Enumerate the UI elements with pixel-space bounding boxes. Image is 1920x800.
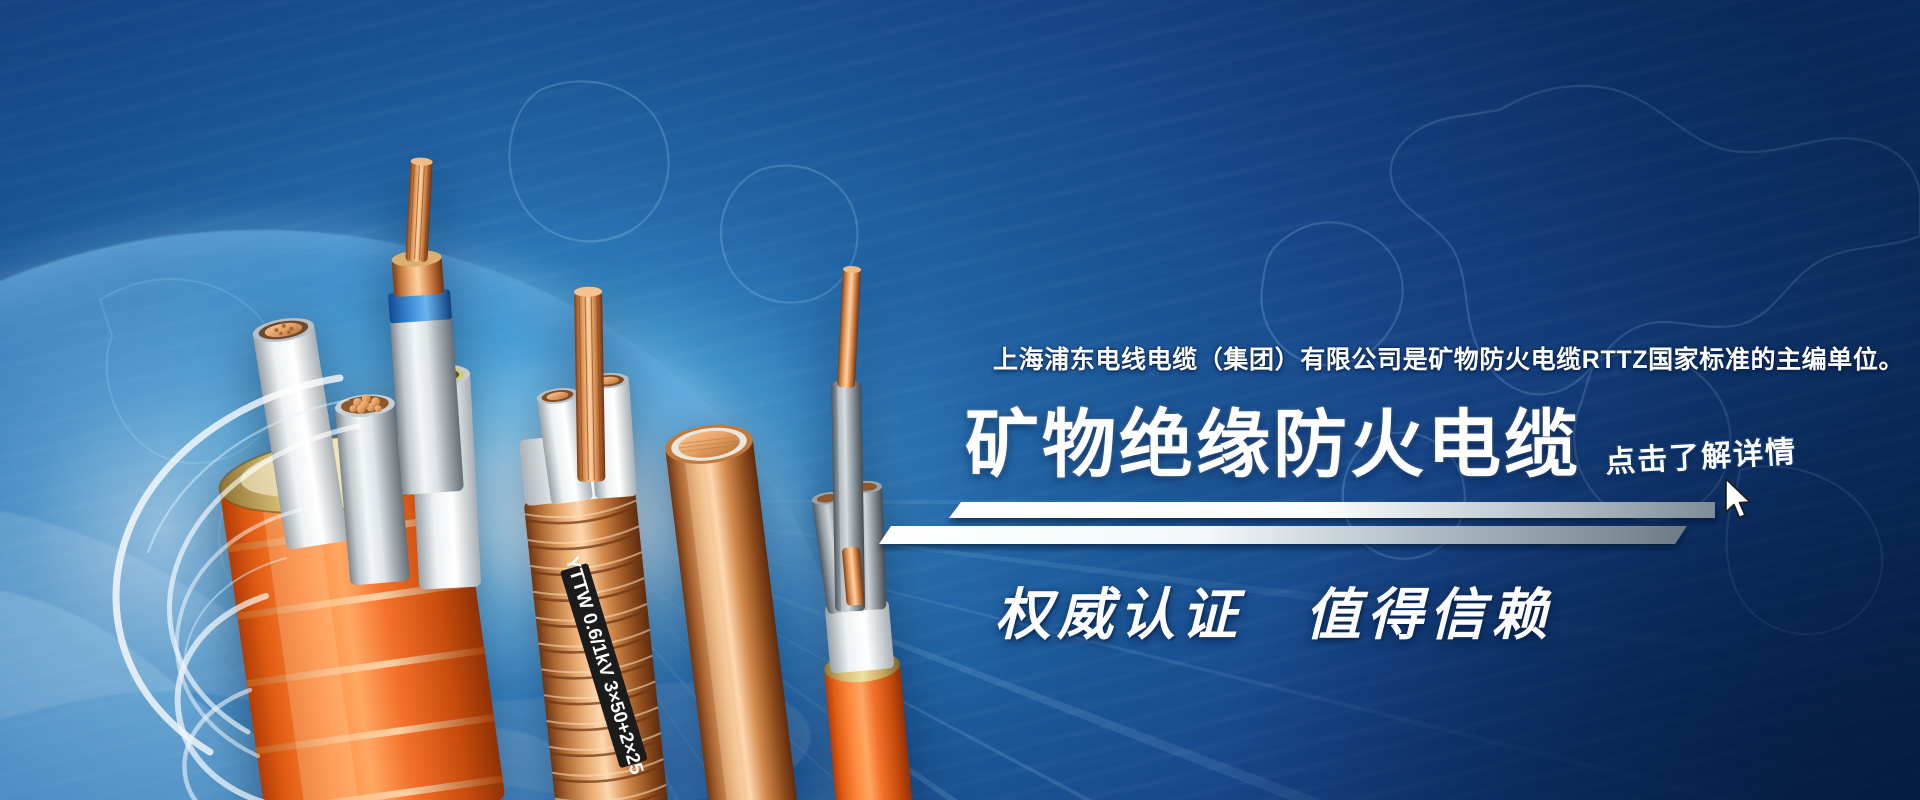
learn-more-cta[interactable]: 点击了解详情	[1604, 427, 1798, 482]
banner-headline: 矿物绝缘防火电缆	[965, 408, 1581, 482]
cable-product-image: YTTW 0.6/1kV 3×50+2×25	[130, 195, 1050, 800]
decorative-divider-bars	[875, 500, 1715, 560]
banner-subtitle: 上海浦东电线电缆（集团）有限公司是矿物防火电缆RTTZ国家标准的主编单位。	[993, 340, 1785, 376]
headline-row: 矿物绝缘防火电缆 点击了解详情	[965, 390, 1785, 482]
banner-copy: 上海浦东电线电缆（集团）有限公司是矿物防火电缆RTTZ国家标准的主编单位。 矿物…	[965, 340, 1785, 651]
promo-banner: YTTW 0.6/1kV 3×50+2×25	[0, 0, 1920, 800]
banner-tagline: 权威认证 值得信赖	[995, 570, 1785, 651]
